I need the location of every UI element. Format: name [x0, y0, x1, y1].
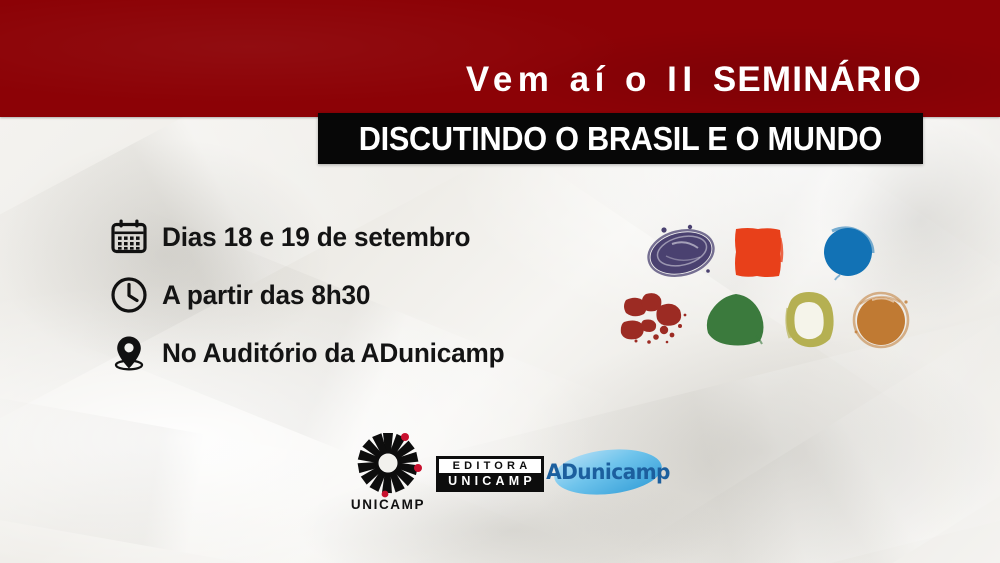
adunicamp-wordmark: ADunicamp [554, 446, 662, 498]
blue-circle-splotch [818, 221, 880, 286]
event-details-list: Dias 18 e 19 de setembro A partir das 8h… [108, 208, 515, 382]
unicamp-logo: UNICAMP [342, 430, 434, 512]
detail-row-date: Dias 18 e 19 de setembro [108, 208, 515, 266]
subtitle-banner: DISCUTINDO O BRASIL E O MUNDO [318, 113, 923, 164]
unicamp-wordmark: UNICAMP [342, 497, 434, 512]
subtitle-text: DISCUTINDO O BRASIL E O MUNDO [359, 122, 882, 155]
green-blob-splotch [706, 292, 768, 355]
dark-red-splatter-splotch [620, 290, 692, 355]
brown-circle-splotch [850, 288, 912, 355]
headline: Vem aí o II SEMINÁRIO [466, 62, 922, 97]
detail-text-location: No Auditório da ADunicamp [162, 338, 504, 369]
olive-ring-splotch [780, 288, 838, 355]
event-poster: Vem aí o II SEMINÁRIO DISCUTINDO O BRASI… [0, 0, 1000, 563]
headline-lead: Vem aí o II [466, 60, 713, 99]
calendar-icon [108, 216, 150, 258]
detail-text-date: Dias 18 e 19 de setembro [162, 222, 470, 253]
red-header-band [0, 0, 1000, 117]
clock-icon [108, 274, 150, 316]
headline-main: SEMINÁRIO [713, 60, 922, 99]
red-band-texture [0, 0, 1000, 117]
editora-line2: UNICAMP [439, 473, 541, 489]
detail-text-time: A partir das 8h30 [162, 280, 370, 311]
orange-square-splotch [730, 224, 786, 285]
purple-scribble-splotch [642, 222, 720, 287]
editora-line1: EDITORA [439, 459, 541, 473]
logos-group: UNICAMP EDITORA UNICAMP ADunicamp [336, 430, 666, 512]
location-pin-icon [108, 332, 150, 374]
unicamp-mark-icon [342, 430, 434, 498]
paint-splotches-group [612, 216, 922, 361]
detail-row-location: No Auditório da ADunicamp [108, 324, 515, 382]
editora-unicamp-logo: EDITORA UNICAMP [436, 456, 544, 492]
detail-row-time: A partir das 8h30 [108, 266, 515, 324]
adunicamp-logo: ADunicamp [552, 446, 664, 498]
